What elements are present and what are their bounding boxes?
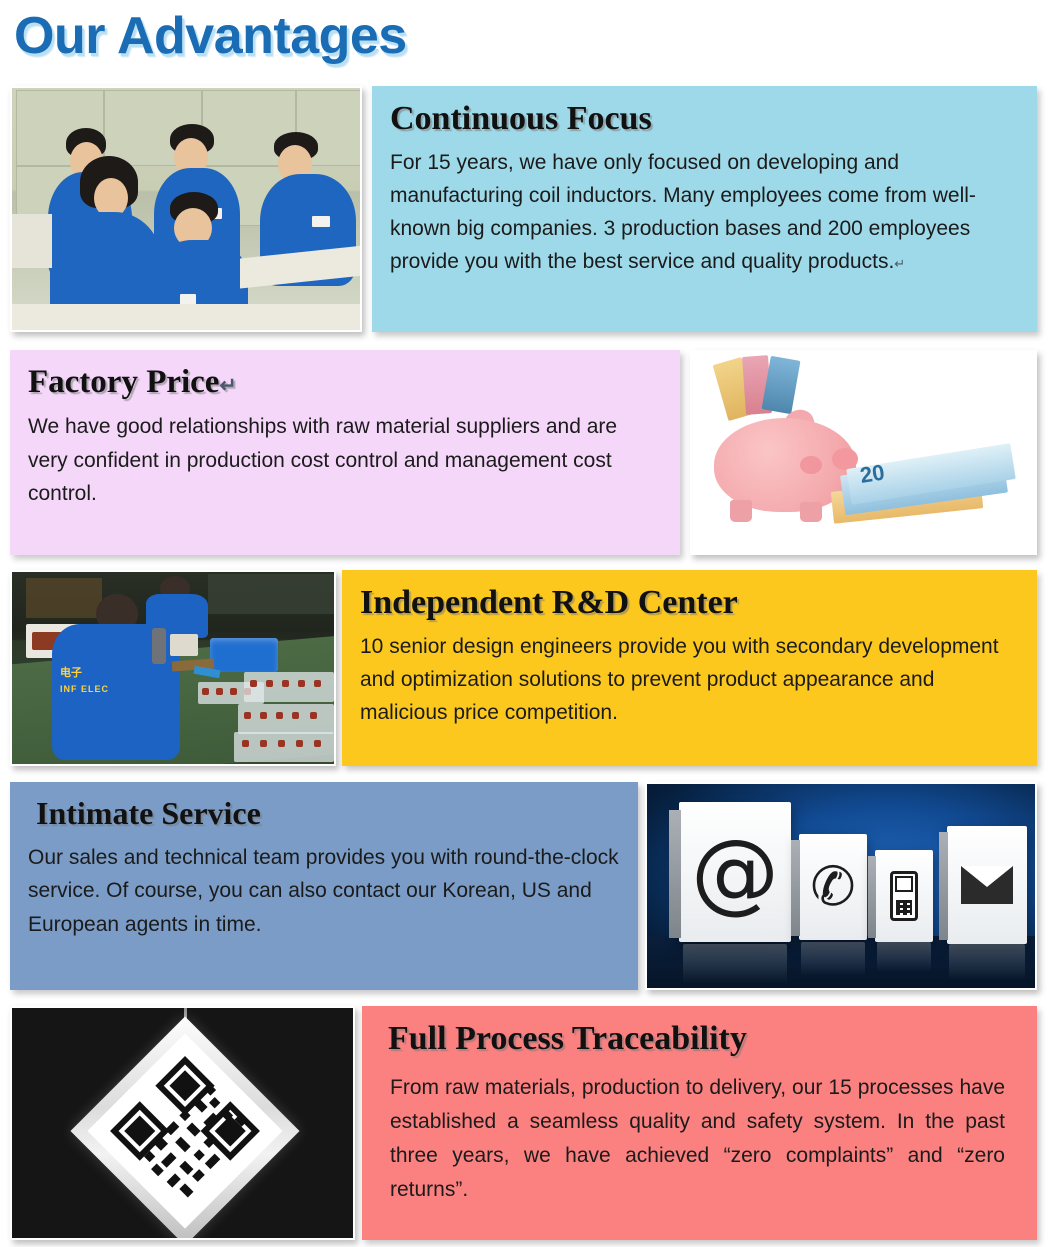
section-body: Our sales and technical team provides yo…	[28, 841, 620, 941]
section-heading: Intimate Service	[28, 796, 620, 831]
section-card-intimate-service: Intimate Service Our sales and technical…	[10, 782, 638, 990]
mobile-phone-icon	[875, 850, 933, 942]
envelope-icon	[947, 826, 1027, 944]
piggy-bank-photo: 20	[690, 350, 1037, 555]
line-break-mark: ↵	[894, 256, 905, 271]
line-break-mark: ↵	[219, 375, 236, 397]
contact-cubes-photo: @ ✆	[645, 782, 1037, 990]
section-heading: Independent R&D Center	[360, 584, 1019, 621]
section-card-continuous-focus: Continuous Focus For 15 years, we have o…	[372, 86, 1037, 332]
section-body: For 15 years, we have only focused on de…	[390, 147, 1019, 278]
section-heading: Factory Price↵	[28, 364, 662, 400]
section-heading: Continuous Focus	[390, 100, 1019, 137]
factory-team-photo	[10, 86, 362, 332]
at-sign-icon: @	[679, 802, 791, 942]
section-card-independent-rd-center: Independent R&D Center 10 senior design …	[342, 570, 1037, 766]
section-body: We have good relationships with raw mate…	[28, 410, 662, 511]
section-heading: Full Process Traceability	[380, 1020, 1019, 1057]
advantages-infographic: Our Advantages	[0, 0, 1059, 1247]
page-title: Our Advantages	[14, 6, 407, 66]
qr-code-photo	[10, 1006, 355, 1240]
section-card-factory-price: Factory Price↵ We have good relationship…	[10, 350, 680, 555]
section-card-full-process-traceability: Full Process Traceability From raw mater…	[362, 1006, 1037, 1240]
telephone-handset-icon: ✆	[799, 834, 867, 940]
rd-workbench-photo: 电子 INF ELEC	[10, 570, 336, 766]
section-body: 10 senior design engineers provide you w…	[360, 631, 1019, 729]
section-body: From raw materials, production to delive…	[380, 1071, 1019, 1207]
